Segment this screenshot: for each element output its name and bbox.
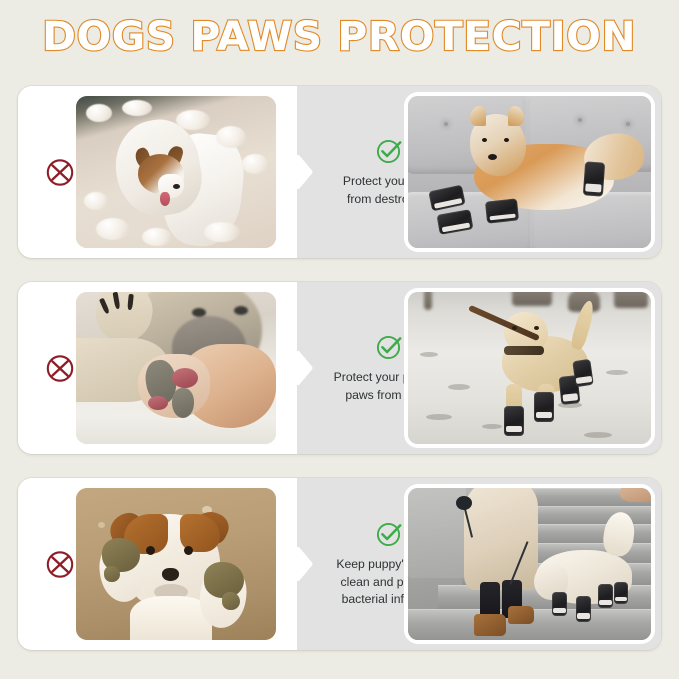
cross-circle-icon bbox=[43, 351, 77, 385]
chevron-right-icon bbox=[296, 547, 313, 581]
check-circle-icon bbox=[375, 519, 404, 548]
infographic-page: DOGS PAWS PROTECTION bbox=[0, 0, 679, 679]
page-title: DOGS PAWS PROTECTION bbox=[43, 14, 637, 60]
problem-side bbox=[18, 282, 297, 454]
benefit-panel: Protect your puppy's paws from harm bbox=[18, 282, 661, 454]
problem-photo bbox=[76, 96, 276, 248]
title-bar: DOGS PAWS PROTECTION bbox=[0, 14, 679, 60]
solution-photo bbox=[408, 292, 651, 444]
benefit-panel: Keep puppy's paws clean and prevent bact… bbox=[18, 478, 661, 650]
chevron-right-icon bbox=[296, 155, 313, 189]
check-circle-icon bbox=[375, 136, 404, 165]
cross-circle-icon bbox=[43, 547, 77, 581]
problem-side bbox=[18, 478, 297, 650]
problem-photo bbox=[76, 292, 276, 444]
benefit-panel: Protect your sofa from destroying bbox=[18, 86, 661, 258]
solution-side: Protect your sofa from destroying bbox=[297, 86, 661, 258]
solution-photo bbox=[408, 488, 651, 640]
check-circle-icon bbox=[375, 332, 404, 361]
solution-photo bbox=[408, 96, 651, 248]
chevron-right-icon bbox=[296, 351, 313, 385]
cross-circle-icon bbox=[43, 155, 77, 189]
problem-photo bbox=[76, 488, 276, 640]
solution-side: Keep puppy's paws clean and prevent bact… bbox=[297, 478, 661, 650]
problem-side bbox=[18, 86, 297, 258]
solution-side: Protect your puppy's paws from harm bbox=[297, 282, 661, 454]
